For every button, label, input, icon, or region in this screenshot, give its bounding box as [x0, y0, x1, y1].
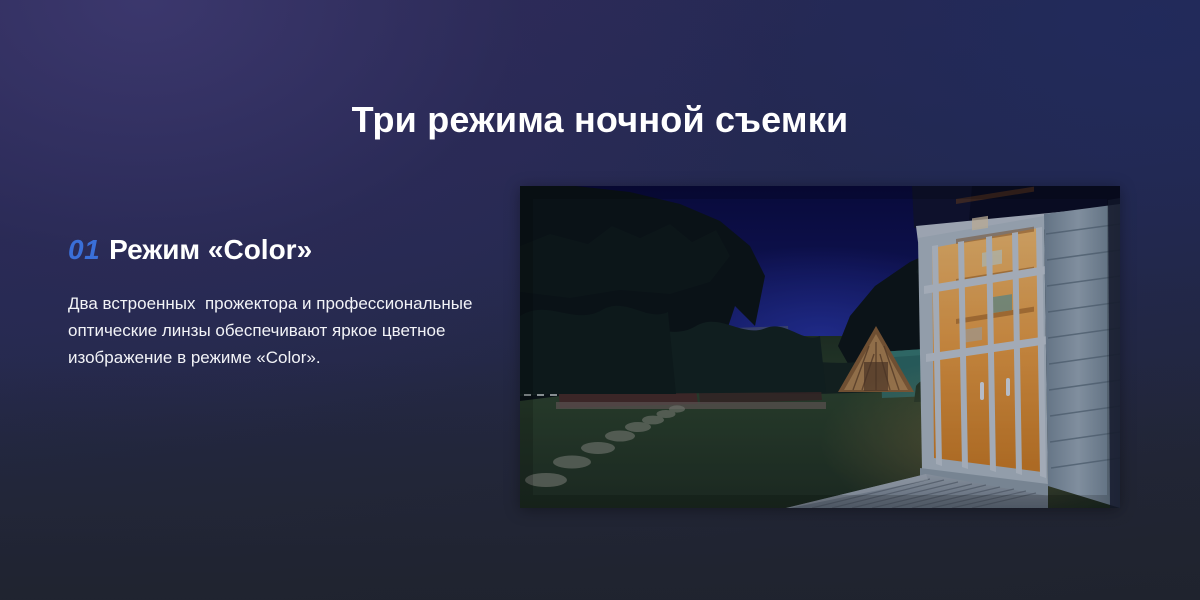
feature-heading-label: Режим «Color» — [109, 234, 312, 265]
page-title: Три режима ночной съемки — [0, 98, 1200, 142]
slide-canvas: Три режима ночной съемки 01Режим «Color»… — [0, 0, 1200, 600]
night-photo — [520, 186, 1120, 508]
feature-text-column: 01Режим «Color» Два встроенных прожектор… — [68, 232, 488, 388]
feature-heading: 01Режим «Color» — [68, 232, 488, 268]
night-photo-illustration — [520, 186, 1120, 508]
feature-index-number: 01 — [68, 232, 100, 268]
feature-description: Два встроенных прожектора и профессионал… — [68, 290, 480, 371]
